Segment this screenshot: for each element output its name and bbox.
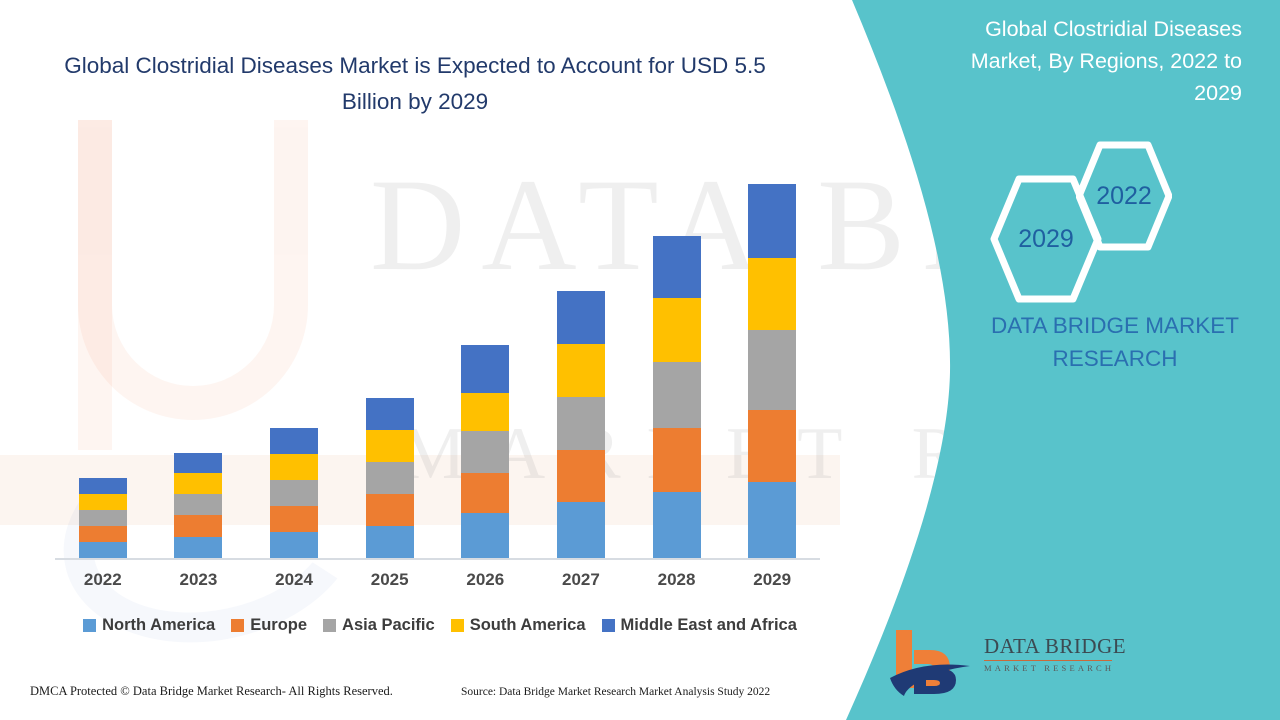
x-axis-label: 2026 (438, 570, 534, 590)
bar-segment (461, 513, 509, 558)
legend-swatch-icon (451, 619, 464, 632)
bar-segment (366, 526, 414, 558)
legend-item[interactable]: Asia Pacific (323, 616, 435, 635)
bar-segment (653, 362, 701, 428)
bar-segment (557, 344, 605, 397)
x-axis-line (55, 558, 820, 560)
logo-subtitle: MARKET RESEARCH (984, 663, 1114, 673)
bar-segment (270, 506, 318, 532)
legend-swatch-icon (231, 619, 244, 632)
x-axis-label: 2024 (246, 570, 342, 590)
bar-column (55, 158, 151, 558)
bar-segment (748, 482, 796, 558)
brand-name: DATA BRIDGE MARKET RESEARCH (960, 310, 1270, 375)
legend-swatch-icon (323, 619, 336, 632)
bar-segment (270, 428, 318, 454)
bar-segment (461, 393, 509, 431)
chart-legend: North AmericaEuropeAsia PacificSouth Ame… (55, 616, 825, 635)
stacked-bar (366, 398, 414, 558)
bar-segment (270, 532, 318, 558)
legend-label: South America (470, 616, 586, 635)
bar-segment (557, 397, 605, 450)
logo-name: DATA BRIDGE (984, 636, 1114, 657)
stacked-bar (461, 345, 509, 558)
bar-segment (79, 526, 127, 542)
bar-segment (174, 453, 222, 473)
bar-segment (557, 502, 605, 558)
bar-column (724, 158, 820, 558)
bar-segment (79, 494, 127, 510)
chart-bars (55, 158, 820, 558)
bar-segment (174, 537, 222, 558)
bar-segment (270, 480, 318, 506)
bar-segment (366, 398, 414, 430)
logo-text: DATA BRIDGE MARKET RESEARCH (984, 636, 1114, 673)
hexagon-badge-start-label: 2022 (1096, 182, 1152, 211)
legend-item[interactable]: North America (83, 616, 215, 635)
legend-item[interactable]: South America (451, 616, 586, 635)
bar-segment (174, 515, 222, 537)
logo-mark-icon (884, 626, 980, 698)
logo-divider (984, 660, 1112, 661)
stacked-bar-chart: 20222023202420252026202720282029 North A… (0, 0, 840, 720)
bar-segment (174, 473, 222, 494)
legend-label: North America (102, 616, 215, 635)
bar-segment (461, 345, 509, 393)
stacked-bar (748, 184, 796, 558)
bar-segment (270, 454, 318, 480)
x-axis-label: 2028 (629, 570, 725, 590)
legend-item[interactable]: Middle East and Africa (602, 616, 797, 635)
hexagon-badges: 2022 2029 (980, 140, 1210, 300)
bar-segment (653, 236, 701, 298)
bar-segment (653, 492, 701, 558)
bar-column (533, 158, 629, 558)
legend-swatch-icon (602, 619, 615, 632)
bar-segment (557, 291, 605, 344)
stacked-bar (557, 291, 605, 558)
x-axis-labels: 20222023202420252026202720282029 (55, 570, 820, 590)
bar-segment (653, 298, 701, 362)
source-notice: Source: Data Bridge Market Research Mark… (461, 686, 770, 698)
bar-column (629, 158, 725, 558)
stacked-bar (79, 478, 127, 558)
stacked-bar (653, 236, 701, 558)
bar-column (246, 158, 342, 558)
panel-title: Global Clostridial Diseases Market, By R… (942, 14, 1242, 109)
bar-segment (748, 184, 796, 258)
hexagon-badge-end-label: 2029 (1018, 225, 1074, 254)
infographic-root: DATA BRIDGE MARKET RESEARCH Global Clost… (0, 0, 1280, 720)
x-axis-label: 2027 (533, 570, 629, 590)
bar-segment (653, 428, 701, 492)
legend-item[interactable]: Europe (231, 616, 307, 635)
bar-column (151, 158, 247, 558)
legend-label: Asia Pacific (342, 616, 435, 635)
bar-segment (748, 330, 796, 410)
x-axis-label: 2025 (342, 570, 438, 590)
bar-segment (174, 494, 222, 515)
bar-segment (79, 510, 127, 526)
bar-segment (748, 258, 796, 330)
bar-segment (461, 431, 509, 473)
bar-segment (79, 542, 127, 558)
bar-column (342, 158, 438, 558)
bar-segment (79, 478, 127, 494)
legend-label: Middle East and Africa (621, 616, 797, 635)
bar-segment (366, 494, 414, 526)
x-axis-label: 2023 (151, 570, 247, 590)
bar-segment (748, 410, 796, 482)
bar-segment (557, 450, 605, 502)
bar-segment (366, 462, 414, 494)
bar-column (438, 158, 534, 558)
data-bridge-logo: DATA BRIDGE MARKET RESEARCH (884, 626, 1114, 702)
copyright-notice: DMCA Protected © Data Bridge Market Rese… (30, 684, 393, 699)
bar-segment (366, 430, 414, 462)
legend-swatch-icon (83, 619, 96, 632)
x-axis-label: 2029 (724, 570, 820, 590)
hexagon-badge-end: 2029 (990, 174, 1102, 304)
stacked-bar (270, 428, 318, 558)
bar-segment (461, 473, 509, 513)
stacked-bar (174, 453, 222, 558)
x-axis-label: 2022 (55, 570, 151, 590)
legend-label: Europe (250, 616, 307, 635)
